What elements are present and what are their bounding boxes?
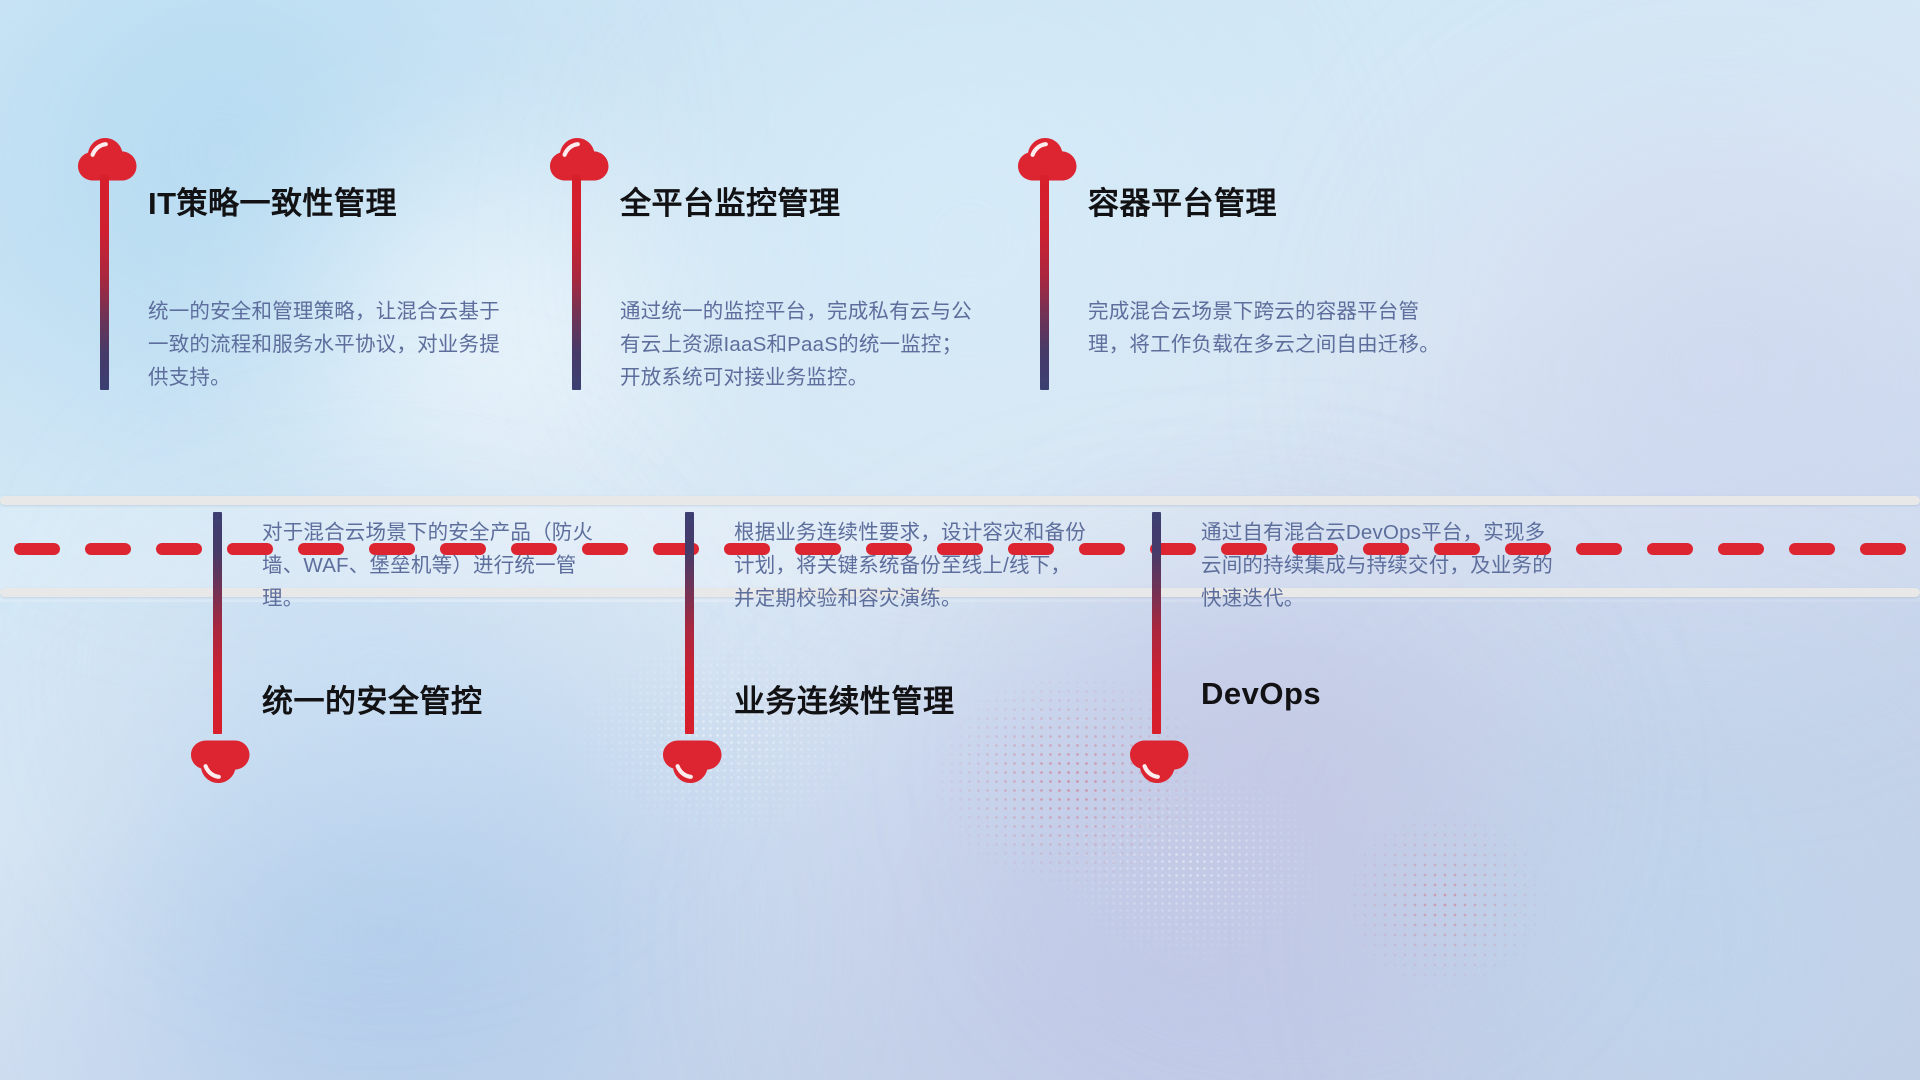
pin-stem bbox=[685, 512, 694, 734]
top-heading-3: 容器平台管理 bbox=[1088, 178, 1277, 223]
road-dash bbox=[1789, 543, 1835, 555]
top-heading-1: IT策略一致性管理 bbox=[148, 178, 397, 223]
road-dash bbox=[14, 543, 60, 555]
pin-stem bbox=[572, 175, 581, 390]
pin-stem bbox=[100, 175, 109, 390]
road-dash bbox=[1647, 543, 1693, 555]
cloud-pin-icon bbox=[1128, 738, 1190, 788]
road-dash bbox=[156, 543, 202, 555]
bottom-heading-1: 统一的安全管控 bbox=[262, 676, 483, 721]
bottom-body-2: 根据业务连续性要求，设计容灾和备份计划，将关键系统备份至线上/线下，并定期校验和… bbox=[734, 516, 1086, 615]
road-edge-top bbox=[0, 496, 1920, 505]
pin-stem bbox=[1040, 175, 1049, 390]
cloud-pin-icon bbox=[661, 738, 723, 788]
road-dash bbox=[1718, 543, 1764, 555]
bottom-body-1: 对于混合云场景下的安全产品（防火墙、WAF、堡垒机等）进行统一管理。 bbox=[262, 516, 614, 615]
top-body-1: 统一的安全和管理策略，让混合云基于一致的流程和服务水平协议，对业务提供支持。 bbox=[148, 295, 500, 394]
pin-stem bbox=[213, 512, 222, 734]
road-dash bbox=[1576, 543, 1622, 555]
bottom-body-3: 通过自有混合云DevOps平台，实现多云间的持续集成与持续交付，及业务的快速迭代… bbox=[1201, 516, 1553, 615]
top-body-3: 完成混合云场景下跨云的容器平台管理，将工作负载在多云之间自由迁移。 bbox=[1088, 295, 1440, 361]
infographic-canvas: IT策略一致性管理 统一的安全和管理策略，让混合云基于一致的流程和服务水平协议，… bbox=[0, 0, 1920, 1080]
cloud-pin-icon bbox=[189, 738, 251, 788]
bottom-heading-3: DevOps bbox=[1201, 676, 1321, 712]
top-body-2: 通过统一的监控平台，完成私有云与公有云上资源IaaS和PaaS的统一监控；开放系… bbox=[620, 295, 972, 394]
bottom-heading-2: 业务连续性管理 bbox=[734, 676, 955, 721]
road-dash bbox=[1860, 543, 1906, 555]
road-dash bbox=[85, 543, 131, 555]
pin-stem bbox=[1152, 512, 1161, 734]
top-heading-2: 全平台监控管理 bbox=[620, 178, 841, 223]
